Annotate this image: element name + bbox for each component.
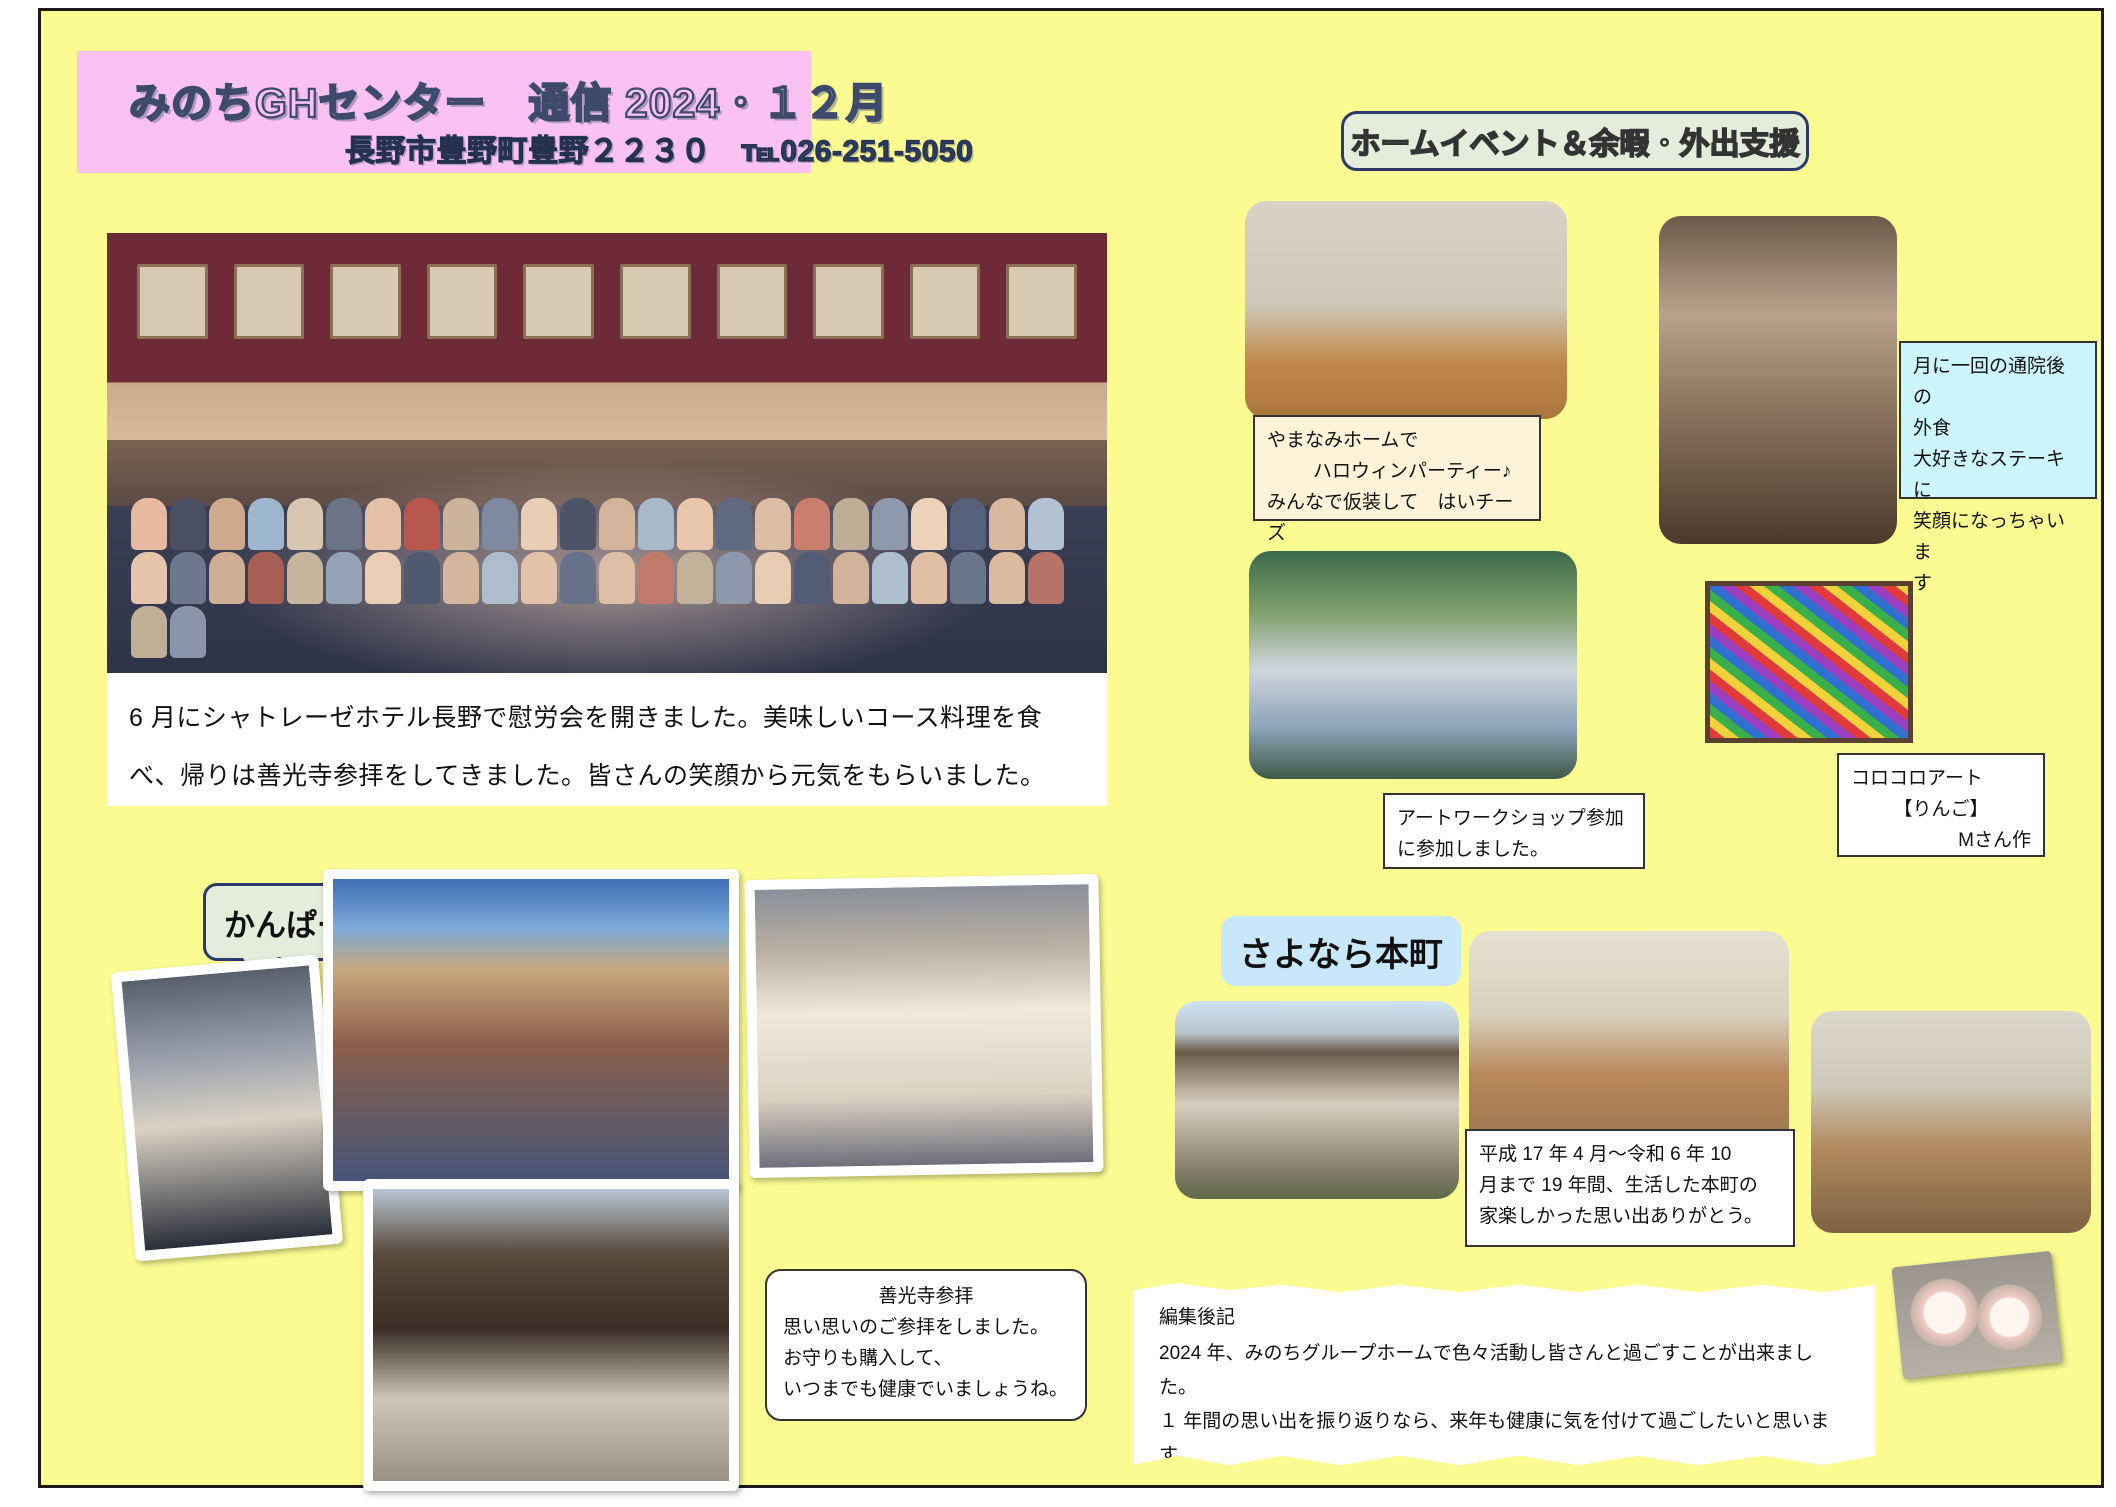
caption-steak-line5: す [1913,568,2083,599]
caption-zenkoji-title: 善光寺参拝 [783,1281,1069,1312]
caption-steak-line4: 笑顔になっちゃいま [1913,506,2083,568]
photo-mic-greeting [111,954,343,1261]
crowd-decor [127,365,1087,664]
main-caption-line2: べ、帰りは善光寺参拝をしてきました。皆さんの笑顔から元気をもらいました。 [129,747,1085,805]
caption-steak: 月に一回の通院後の 外食 大好きなステーキに 笑顔になっちゃいま す [1899,341,2097,499]
photo-zenkoji-temple [363,1179,739,1491]
caption-halloween-line3: みんなで仮装して はいチーズ [1267,487,1527,549]
newsletter-page: みのちGHセンター 通信 2024・１２月 長野市豊野町豊野２２３０ ℡026-… [38,8,2104,1488]
caption-halloween-line2: ハロウィンパーティー♪ [1267,456,1527,487]
editor-note-line3: 御家族の皆様、お体をご自愛ください [1159,1473,1849,1507]
main-story-caption: 6 月にシャトレーゼホテル長野で慰労会を開きました。美味しいコース料理を食 べ、… [107,673,1107,806]
main-caption-line1: 6 月にシャトレーゼホテル長野で慰労会を開きました。美味しいコース料理を食 [129,689,1085,747]
caption-zenkoji-line2: お守りも購入して、 [783,1343,1069,1374]
photo-honmachi-house [1175,1001,1459,1199]
section-header-home-events: ホームイベント＆余暇・外出支援 [1341,111,1809,171]
caption-korokoro: コロコロアート 【りんご】 Mさん作 [1837,753,2045,857]
main-group-photo [107,233,1107,673]
editor-note-line1: 2024 年、みのちグループホームで色々活動し皆さんと過ごすことが出来ました。 [1159,1337,1849,1405]
address-line: 長野市豊野町豊野２２３０ ℡026-251-5050 [345,126,973,170]
caption-zenkoji-line1: 思い思いのご参拝をしました。 [783,1312,1069,1343]
section-header-honmachi: さよなら本町 [1221,916,1461,986]
caption-honmachi-memory: 平成 17 年 4 月～令和 6 年 10 月まで 19 年間、生活した本町の … [1465,1129,1795,1247]
photo-art-workshop [1249,551,1577,779]
photo-halloween [1245,201,1567,419]
caption-honmachi-line3: 家楽しかった思い出ありがとう。 [1479,1201,1781,1232]
caption-zenkoji: 善光寺参拝 思い思いのご参拝をしました。 お守りも購入して、 いつまでも健康でい… [765,1269,1087,1421]
caption-steak-line3: 大好きなステーキに [1913,444,2083,506]
photo-steak [1659,216,1897,544]
caption-honmachi-line1: 平成 17 年 4 月～令和 6 年 10 [1479,1139,1781,1170]
caption-honmachi-line2: 月まで 19 年間、生活した本町の [1479,1170,1781,1201]
photo-honmachi-room2 [1811,1011,2091,1233]
editor-note-line2: １ 年間の思い出を振り返りなら、来年も健康に気を付けて過ごしたいと思います。 [1159,1405,1849,1473]
caption-artshop-line1: アートワークショップ参加 [1397,803,1631,834]
page-title: みのちGHセンター 通信 2024・１２月 [129,69,888,129]
caption-korokoro-line2: 【りんご】 [1851,794,2031,825]
caption-halloween-line1: やまなみホームで [1267,425,1527,456]
caption-korokoro-line1: コロコロアート [1851,763,2031,794]
caption-steak-line1: 月に一回の通院後の [1913,351,2083,413]
photo-banquet-table [744,874,1103,1178]
caption-steak-line2: 外食 [1913,413,2083,444]
editor-note-box: 編集後記 2024 年、みのちグループホームで色々活動し皆さんと過ごすことが出来… [1133,1279,1875,1467]
caption-artshop-line2: に参加しました。 [1397,834,1631,865]
caption-zenkoji-line3: いつまでも健康でいましょうね。 [783,1374,1069,1405]
editor-note-title: 編集後記 [1159,1301,1849,1335]
photo-banquet-hall [323,869,739,1191]
caption-halloween: やまなみホームで ハロウィンパーティー♪ みんなで仮装して はいチーズ [1253,415,1541,521]
wall-frames-decor [137,264,1077,339]
caption-korokoro-line3: Mさん作 [1851,825,2031,856]
photo-rabbit-sweets [1892,1251,2063,1379]
title-banner: みのちGHセンター 通信 2024・１２月 長野市豊野町豊野２２３０ ℡026-… [77,51,811,173]
photo-korokoro-art [1705,581,1913,743]
caption-art-workshop: アートワークショップ参加 に参加しました。 [1383,793,1645,869]
